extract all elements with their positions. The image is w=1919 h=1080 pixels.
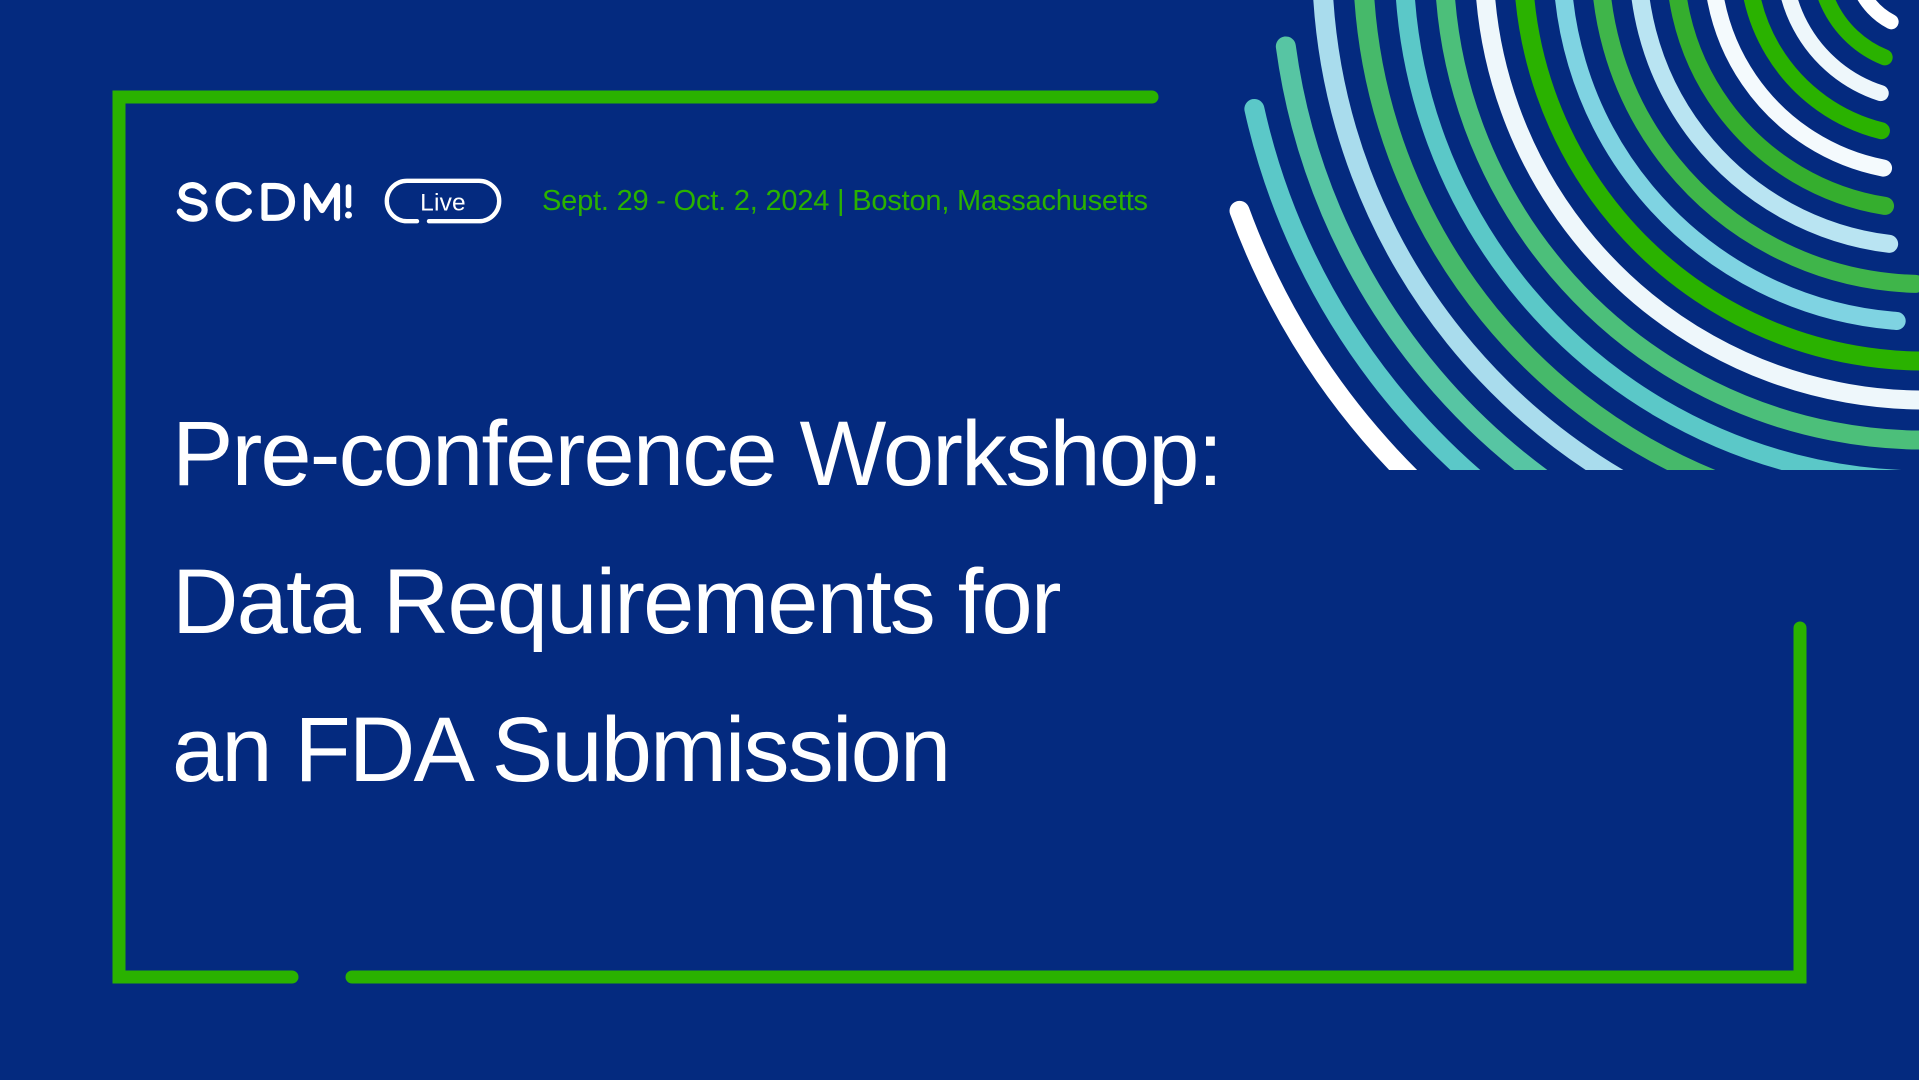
svg-text:Live: Live: [420, 190, 466, 217]
live-pill-icon: Live: [384, 178, 502, 224]
scdm-wordmark-icon: [176, 178, 372, 224]
slide-canvas: Live Sept. 29 - Oct. 2, 2024 | Boston, M…: [0, 0, 1919, 1080]
headline-line-1: Pre-conference Workshop:: [172, 380, 1572, 528]
slide-content: Live Sept. 29 - Oct. 2, 2024 | Boston, M…: [0, 0, 1919, 1080]
brand-lockup: Live: [176, 178, 502, 224]
page-title: Pre-conference Workshop: Data Requiremen…: [172, 380, 1572, 824]
headline-line-3: an FDA Submission: [172, 676, 1572, 824]
headline-line-2: Data Requirements for: [172, 528, 1572, 676]
header-row: Live Sept. 29 - Oct. 2, 2024 | Boston, M…: [176, 178, 1148, 224]
event-meta-line: Sept. 29 - Oct. 2, 2024 | Boston, Massac…: [542, 187, 1148, 216]
